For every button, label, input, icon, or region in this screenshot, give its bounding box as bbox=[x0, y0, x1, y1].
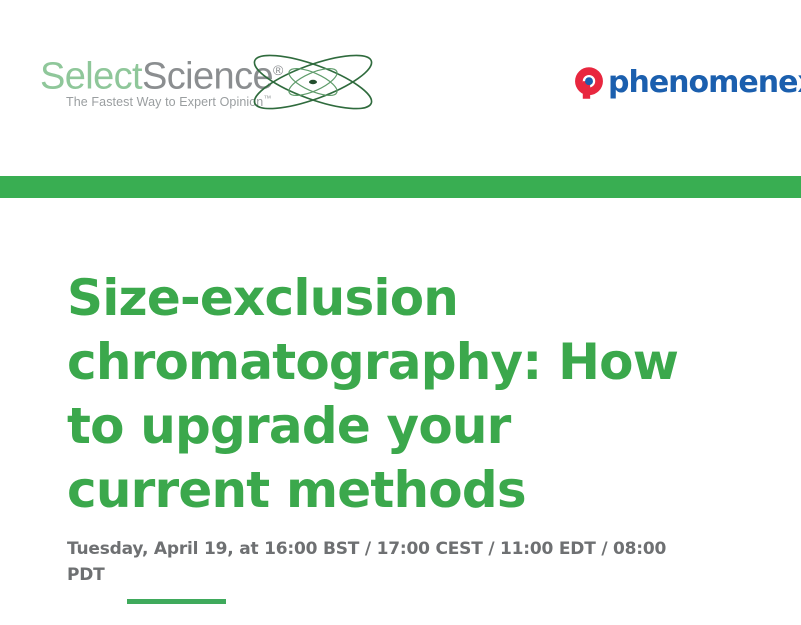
atom-orbit-icon bbox=[238, 42, 388, 122]
header-logo-strip: SelectScience® The Fastest Way to Expert… bbox=[0, 0, 801, 176]
selectscience-tagline-text: The Fastest Way to Expert Opinion bbox=[66, 95, 263, 109]
phenomenex-wordmark: phenomenex bbox=[608, 68, 801, 98]
phenomenex-dot-icon bbox=[585, 77, 593, 85]
selectscience-word-select: Select bbox=[40, 56, 142, 98]
phenomenex-p-mark-icon bbox=[571, 65, 607, 101]
accent-underline bbox=[127, 599, 226, 604]
selectscience-logo[interactable]: SelectScience® The Fastest Way to Expert… bbox=[38, 48, 388, 124]
atom-nucleus-icon bbox=[309, 80, 317, 84]
phenomenex-logo[interactable]: phenomenex bbox=[571, 62, 801, 104]
green-divider-band bbox=[0, 176, 801, 198]
event-datetime: Tuesday, April 19, at 16:00 BST / 17:00 … bbox=[67, 536, 667, 588]
page-title: Size-exclusion chromatography: How to up… bbox=[67, 266, 687, 522]
